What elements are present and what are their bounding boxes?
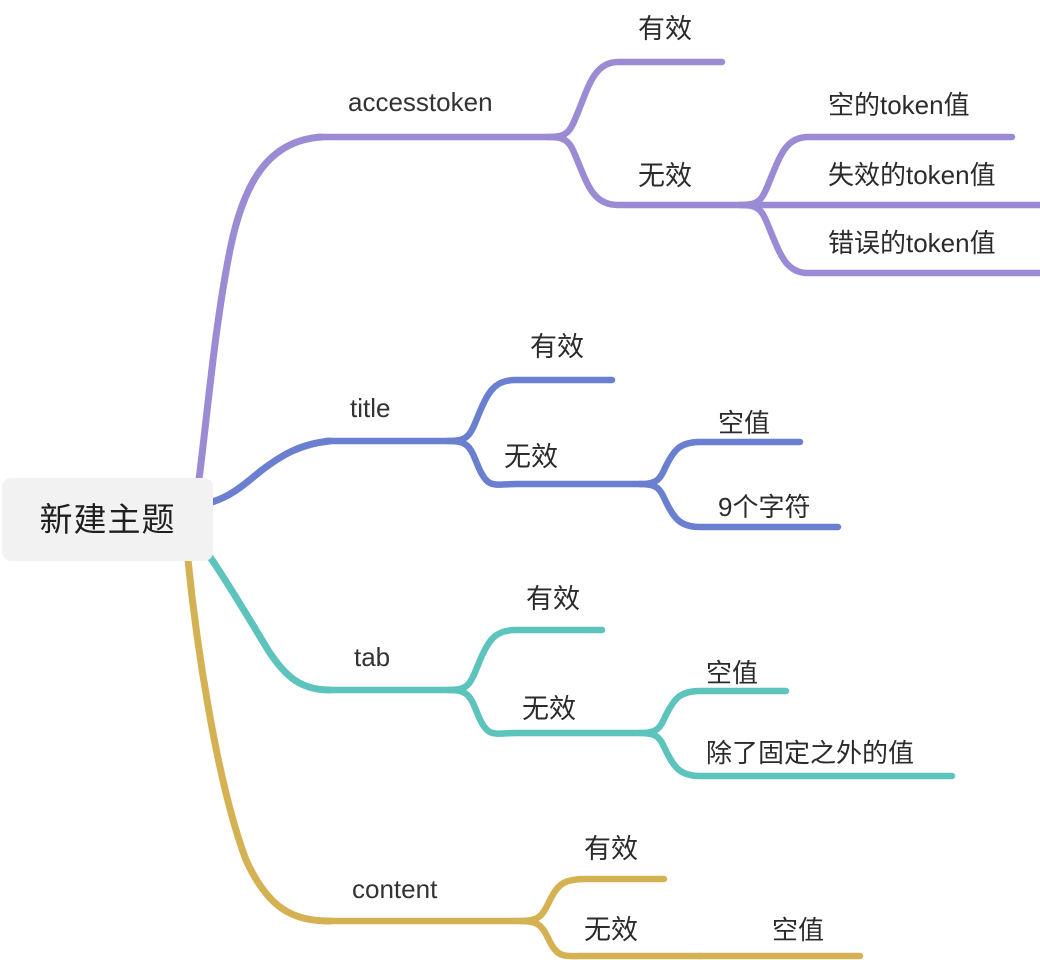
node-tab-valid-label: 有效	[526, 584, 580, 614]
node-tab-empty-value[interactable]: 空值	[706, 660, 758, 686]
node-accesstoken-invalid-label: 无效	[638, 161, 692, 191]
node-content-valid[interactable]: 有效	[584, 836, 638, 863]
node-title-empty-value[interactable]: 空值	[718, 410, 770, 436]
node-title-empty-value-label: 空值	[718, 408, 770, 438]
node-expired-token-value-label: 失效的token值	[828, 160, 996, 190]
node-accesstoken[interactable]: accesstoken	[348, 89, 493, 115]
branch-accesstoken-wires	[198, 62, 1040, 487]
node-content-invalid-label: 无效	[584, 915, 638, 945]
node-tab-invalid-label: 无效	[522, 694, 576, 724]
node-empty-token-value-label: 空的token值	[828, 90, 970, 120]
node-tab-label: tab	[354, 642, 390, 672]
wire-title-to-valid	[448, 380, 612, 441]
node-title-invalid[interactable]: 无效	[504, 444, 558, 471]
node-content-label: content	[352, 874, 437, 904]
wire-tab-to-valid	[448, 630, 602, 690]
node-accesstoken-label: accesstoken	[348, 87, 493, 117]
node-accesstoken-valid[interactable]: 有效	[638, 16, 692, 43]
wire-root-to-content	[188, 560, 330, 921]
root-node[interactable]: 新建主题	[2, 478, 213, 561]
node-accesstoken-invalid[interactable]: 无效	[638, 163, 692, 190]
node-content-invalid[interactable]: 无效	[584, 917, 638, 944]
node-tab-other-value[interactable]: 除了固定之外的值	[706, 740, 914, 766]
wire-title-invalid-to-empty	[640, 442, 800, 484]
node-content-empty-value-label: 空值	[772, 915, 824, 945]
node-expired-token-value[interactable]: 失效的token值	[828, 162, 996, 188]
node-title-valid-label: 有效	[530, 332, 584, 362]
node-tab[interactable]: tab	[354, 644, 390, 670]
node-title-invalid-label: 无效	[504, 442, 558, 472]
root-node-label: 新建主题	[40, 503, 176, 536]
node-title-nine-chars-label: 9个字符	[718, 492, 810, 522]
node-content-empty-value[interactable]: 空值	[772, 917, 824, 943]
mindmap-canvas: 新建主题 accesstoken 有效 无效 空的token值 失效的token…	[0, 0, 1040, 960]
node-content-valid-label: 有效	[584, 834, 638, 864]
node-title-valid[interactable]: 有效	[530, 334, 584, 361]
node-wrong-token-value-label: 错误的token值	[828, 228, 996, 258]
wire-root-to-title	[212, 441, 330, 502]
wire-accesstoken-to-valid	[548, 62, 722, 137]
node-content[interactable]: content	[352, 876, 437, 902]
node-title[interactable]: title	[350, 395, 390, 421]
wire-tab-invalid-to-empty	[640, 691, 786, 733]
node-tab-invalid[interactable]: 无效	[522, 696, 576, 723]
wire-root-to-tab	[210, 557, 330, 690]
node-tab-other-value-label: 除了固定之外的值	[706, 738, 914, 768]
node-wrong-token-value[interactable]: 错误的token值	[828, 230, 996, 256]
node-title-nine-chars[interactable]: 9个字符	[718, 494, 810, 520]
node-tab-valid[interactable]: 有效	[526, 586, 580, 613]
wire-root-to-accesstoken	[198, 137, 322, 487]
node-title-label: title	[350, 393, 390, 423]
node-tab-empty-value-label: 空值	[706, 658, 758, 688]
node-empty-token-value[interactable]: 空的token值	[828, 92, 970, 118]
node-accesstoken-valid-label: 有效	[638, 14, 692, 44]
